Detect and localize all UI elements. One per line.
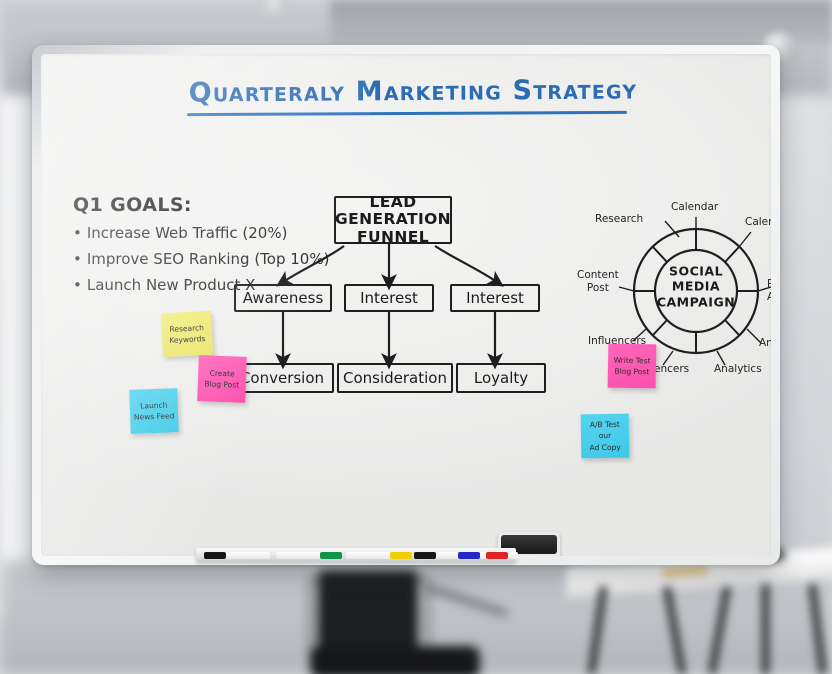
sticky-note-text: Write Test Blog Post bbox=[613, 354, 650, 377]
chair-armrest bbox=[421, 582, 509, 617]
office-chair bbox=[300, 572, 510, 674]
chair-backrest bbox=[318, 570, 418, 654]
sticky-note-text: Research Keywords bbox=[168, 322, 205, 346]
wheel-center-line3: CAMPAIGN bbox=[651, 294, 741, 310]
black-marker[interactable] bbox=[204, 552, 226, 559]
yellow-marker[interactable] bbox=[390, 552, 412, 559]
wheel-label-analytics-right: Analytics bbox=[759, 337, 771, 350]
sticky-note-ab-test-ad-copy[interactable]: A/B Test our Ad Copy bbox=[581, 414, 630, 459]
wheel-label-content-post: Content Post bbox=[577, 269, 619, 294]
sticky-note-create-blog-post[interactable]: Create Blog Post bbox=[197, 355, 247, 403]
ceiling-beam bbox=[330, 0, 832, 44]
sticky-note-write-test-blog-post[interactable]: Write Test Blog Post bbox=[608, 344, 657, 389]
funnel-head-box[interactable]: LEAD GENERATION FUNNEL bbox=[334, 196, 452, 244]
green-marker[interactable] bbox=[320, 552, 342, 559]
wheel-center-label: SOCIAL MEDIA CAMPAIGN bbox=[651, 263, 741, 310]
funnel-node-loyalty[interactable]: Loyalty bbox=[456, 363, 546, 393]
table-leg bbox=[762, 584, 769, 674]
sticky-note-launch-news-feed[interactable]: Launch News Feed bbox=[129, 388, 179, 434]
wheel-label-analytics-bottom: Analytics bbox=[714, 363, 762, 376]
wheel-label-calendar-right: Calendar bbox=[745, 216, 771, 229]
whiteboard-surface[interactable]: Quarteraly Marketing Strategy Q1 GOALS: … bbox=[41, 54, 771, 556]
node-label: Interest bbox=[360, 290, 418, 307]
funnel-node-interest-1[interactable]: Interest bbox=[344, 284, 434, 312]
funnel-node-interest-2[interactable]: Interest bbox=[450, 284, 540, 312]
funnel-head-line2: FUNNEL bbox=[357, 229, 429, 246]
table-leg bbox=[809, 584, 827, 674]
conference-table bbox=[566, 556, 832, 674]
table-leg bbox=[708, 586, 730, 674]
wheel-label-research: Research bbox=[595, 213, 643, 226]
table-leg bbox=[663, 586, 685, 674]
node-label: Interest bbox=[466, 290, 524, 307]
table-leg bbox=[588, 586, 607, 674]
node-label: Consideration bbox=[343, 370, 447, 387]
node-label: Conversion bbox=[240, 370, 324, 387]
wheel-center-line1: SOCIAL bbox=[651, 263, 741, 279]
node-label: Awareness bbox=[243, 290, 324, 307]
funnel-node-consideration[interactable]: Consideration bbox=[337, 363, 453, 393]
black-marker-cap[interactable] bbox=[414, 552, 436, 559]
node-label: Loyalty bbox=[474, 370, 528, 387]
marker-tray[interactable] bbox=[196, 548, 516, 562]
sticky-note-text: Create Blog Post bbox=[204, 367, 239, 391]
sticky-note-research-keywords[interactable]: Research Keywords bbox=[161, 311, 213, 358]
funnel-node-awareness[interactable]: Awareness bbox=[234, 284, 332, 312]
funnel-head-line1: LEAD GENERATION bbox=[335, 194, 451, 229]
sticky-note-text: Launch News Feed bbox=[133, 399, 174, 423]
chair-seat bbox=[310, 646, 480, 674]
blue-marker[interactable] bbox=[458, 552, 480, 559]
whiteboard[interactable]: Quarteraly Marketing Strategy Q1 GOALS: … bbox=[32, 45, 780, 565]
wheel-label-calendar-top: Calendar bbox=[671, 201, 718, 214]
sticky-note-text: A/B Test our Ad Copy bbox=[584, 419, 627, 453]
wheel-center-line2: MEDIA bbox=[651, 279, 741, 295]
wheel-label-paid-ads: Paid Ads bbox=[767, 278, 771, 303]
red-marker[interactable] bbox=[486, 552, 508, 559]
